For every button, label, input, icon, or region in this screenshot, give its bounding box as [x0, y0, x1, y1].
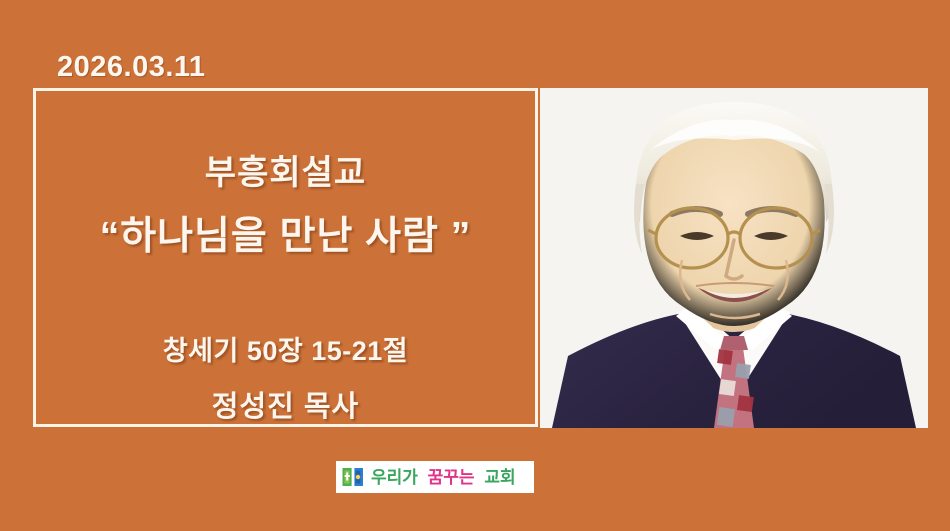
logo-char: 꿈꾸는 [428, 468, 475, 487]
sermon-kind-label: 부흥회설교 [36, 145, 535, 194]
portrait-illustration [540, 88, 928, 428]
logo-char: 우리가 [371, 468, 418, 487]
sermon-date: 2026.03.11 [57, 51, 206, 84]
church-logo-text: 우리가 꿈꾸는 교회 [371, 469, 521, 486]
logo-word-2: 꿈꾸는 [428, 468, 480, 487]
logo-word-1: 우리가 [371, 468, 423, 487]
sermon-title: “하나님을 만난 사람 ” [36, 205, 535, 261]
logo-word-3: 교회 [484, 468, 515, 487]
church-logo: 우리가 꿈꾸는 교회 [336, 461, 534, 493]
preacher-name: 정성진 목사 [36, 383, 535, 425]
sermon-text-frame: 부흥회설교 “하나님을 만난 사람 ” 창세기 50장 15-21절 정성진 목… [33, 88, 538, 427]
sermon-text-frame-inner: 부흥회설교 “하나님을 만난 사람 ” 창세기 50장 15-21절 정성진 목… [36, 91, 535, 424]
scripture-reference: 창세기 50장 15-21절 [36, 329, 535, 368]
logo-char: 교회 [484, 468, 515, 487]
preacher-portrait-photo [540, 88, 928, 428]
open-book-cross-icon [341, 465, 365, 489]
sermon-slide: 2026.03.11 부흥회설교 “하나님을 만난 사람 ” 창세기 50장 1… [0, 0, 950, 531]
